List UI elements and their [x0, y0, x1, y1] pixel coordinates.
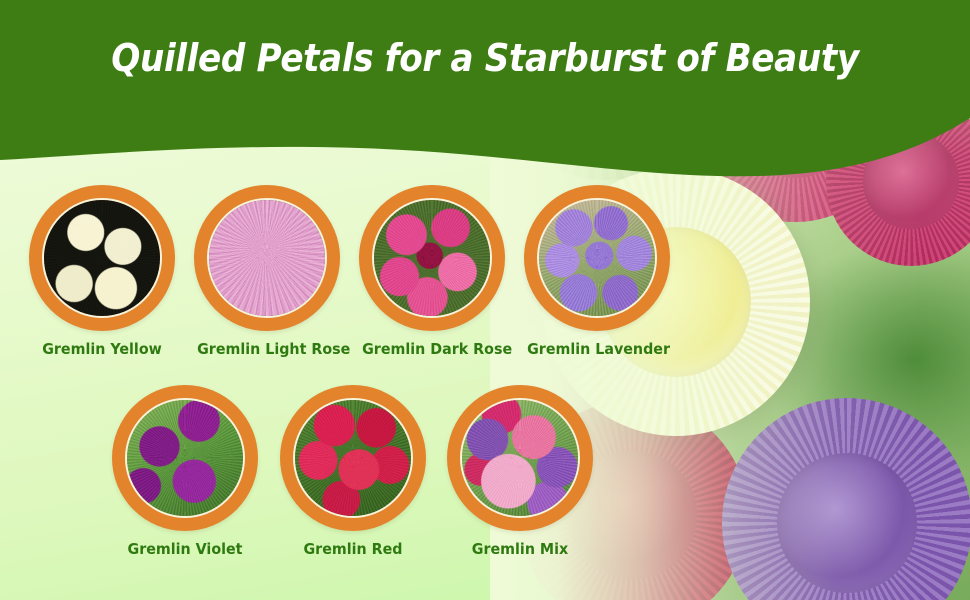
variety-thumbnail-ring — [280, 385, 426, 531]
petal-texture-overlay — [374, 200, 490, 316]
variety-item-gremlin-violet[interactable]: Gremlin Violet — [109, 385, 261, 558]
variety-thumbnail — [207, 198, 327, 318]
variety-thumbnail-ring — [447, 385, 593, 531]
petal-texture-overlay — [209, 200, 325, 316]
variety-thumbnail — [372, 198, 492, 318]
variety-thumbnail-ring — [112, 385, 258, 531]
variety-item-gremlin-mix[interactable]: Gremlin Mix — [444, 385, 596, 558]
petal-texture-overlay — [127, 400, 243, 516]
variety-label: Gremlin Violet — [115, 540, 255, 558]
variety-item-gremlin-light-rose[interactable]: Gremlin Light Rose — [191, 185, 343, 358]
variety-thumbnail-ring — [359, 185, 505, 331]
variety-label: Gremlin Red — [283, 540, 423, 558]
variety-thumbnail — [460, 398, 580, 518]
product-banner: Quilled Petals for a Starburst of Beauty… — [0, 0, 970, 600]
variety-thumbnail — [293, 398, 413, 518]
variety-item-gremlin-red[interactable]: Gremlin Red — [277, 385, 429, 558]
variety-thumbnail-ring — [194, 185, 340, 331]
variety-label: Gremlin Light Rose — [197, 340, 337, 358]
variety-label: Gremlin Mix — [450, 540, 590, 558]
variety-thumbnail — [537, 198, 657, 318]
variety-label: Gremlin Lavender — [527, 340, 667, 358]
variety-thumbnail-ring — [29, 185, 175, 331]
variety-thumbnail-ring — [524, 185, 670, 331]
variety-item-gremlin-yellow[interactable]: Gremlin Yellow — [26, 185, 178, 358]
variety-label: Gremlin Dark Rose — [362, 340, 502, 358]
variety-thumbnail — [125, 398, 245, 518]
petal-texture-overlay — [539, 200, 655, 316]
variety-thumbnail — [42, 198, 162, 318]
petal-texture-overlay — [295, 400, 411, 516]
petal-texture-overlay — [462, 400, 578, 516]
variety-item-gremlin-lavender[interactable]: Gremlin Lavender — [521, 185, 673, 358]
petal-texture-overlay — [44, 200, 160, 316]
variety-label: Gremlin Yellow — [32, 340, 172, 358]
variety-grid: Gremlin Yellow Gremlin Light Rose Gremli… — [0, 0, 700, 600]
variety-item-gremlin-dark-rose[interactable]: Gremlin Dark Rose — [356, 185, 508, 358]
